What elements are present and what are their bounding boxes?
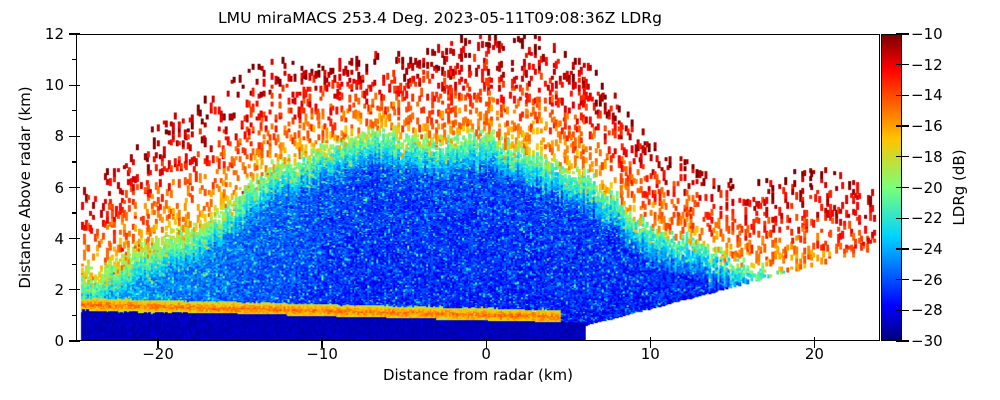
colorbar-tick-inner [896, 248, 902, 249]
y-tick-mark-inner [76, 33, 80, 34]
y-minor-tick [72, 59, 76, 60]
colorbar-tick [902, 156, 909, 157]
colorbar-tick-inner [896, 156, 902, 157]
y-tick-mark-inner [76, 238, 80, 239]
colorbar-tick-inner [896, 279, 902, 280]
colorbar-tick-inner [896, 125, 902, 126]
x-tick-label: 10 [641, 345, 660, 363]
y-tick-label: 10 [45, 76, 64, 94]
colorbar-tick-label: −10 [911, 25, 943, 43]
x-tick-mark-inner [814, 337, 815, 341]
y-tick-mark [69, 85, 76, 86]
colorbar-tick-inner [896, 95, 902, 96]
y-tick-mark [69, 187, 76, 188]
colorbar-tick-label: −24 [911, 240, 943, 258]
y-tick-mark [69, 238, 76, 239]
colorbar-tick-label: −28 [911, 301, 943, 319]
colorbar-tick-inner [896, 340, 902, 341]
radar-data-canvas-wrapper [77, 35, 879, 340]
colorbar-tick-inner [896, 33, 902, 34]
colorbar-tick [902, 218, 909, 219]
x-axis-title: Distance from radar (km) [76, 366, 880, 384]
y-tick-label: 12 [45, 25, 64, 43]
x-tick-mark-inner [486, 337, 487, 341]
y-tick-label: 4 [54, 230, 64, 248]
y-tick-mark-inner [76, 289, 80, 290]
y-tick-mark-inner [76, 136, 80, 137]
colorbar-tick [902, 310, 909, 311]
x-tick-mark-inner [157, 337, 158, 341]
colorbar-tick [902, 64, 909, 65]
y-tick-mark-inner [76, 85, 80, 86]
y-tick-mark [69, 33, 76, 34]
x-tick-label: −20 [142, 345, 174, 363]
colorbar-tick-inner [896, 187, 902, 188]
colorbar-tick-label: −14 [911, 86, 943, 104]
colorbar-tick [902, 340, 909, 341]
colorbar-tick-label: −18 [911, 148, 943, 166]
radar-plot-figure: LMU miraMACS 253.4 Deg. 2023-05-11T09:08… [0, 0, 1000, 400]
colorbar-tick-inner [896, 64, 902, 65]
plot-area [76, 34, 880, 341]
colorbar-tick [902, 125, 909, 126]
colorbar-tick-label: −22 [911, 209, 943, 227]
y-tick-label: 6 [54, 179, 64, 197]
y-minor-tick [72, 315, 76, 316]
x-tick-label: −10 [306, 345, 338, 363]
y-tick-label: 8 [54, 127, 64, 145]
x-tick-mark-inner [321, 337, 322, 341]
colorbar-tick-label: −30 [911, 332, 943, 350]
y-minor-tick [72, 212, 76, 213]
page-title: LMU miraMACS 253.4 Deg. 2023-05-11T09:08… [0, 9, 880, 27]
colorbar-tick-inner [896, 218, 902, 219]
x-tick-label: 20 [805, 345, 824, 363]
y-minor-tick [72, 161, 76, 162]
x-tick-label: 0 [481, 345, 491, 363]
radar-reflectivity-heatmap [77, 35, 879, 340]
y-tick-mark [69, 136, 76, 137]
y-tick-mark-inner [76, 187, 80, 188]
colorbar-title: LDRg (dB) [948, 34, 970, 341]
y-minor-tick [72, 264, 76, 265]
colorbar-tick-label: −26 [911, 271, 943, 289]
y-tick-label: 2 [54, 281, 64, 299]
x-tick-mark-inner [650, 337, 651, 341]
colorbar-tick-inner [896, 310, 902, 311]
y-tick-mark [69, 340, 76, 341]
colorbar-tick-label: −16 [911, 117, 943, 135]
y-tick-label: 0 [54, 332, 64, 350]
colorbar-tick-label: −12 [911, 56, 943, 74]
colorbar-tick [902, 33, 909, 34]
colorbar-tick-label: −20 [911, 179, 943, 197]
y-minor-tick [72, 110, 76, 111]
colorbar-tick [902, 248, 909, 249]
colorbar-tick [902, 187, 909, 188]
colorbar-tick [902, 95, 909, 96]
y-tick-mark-inner [76, 340, 80, 341]
y-axis-title: Distance Above radar (km) [14, 34, 36, 341]
colorbar-tick [902, 279, 909, 280]
y-tick-mark [69, 289, 76, 290]
